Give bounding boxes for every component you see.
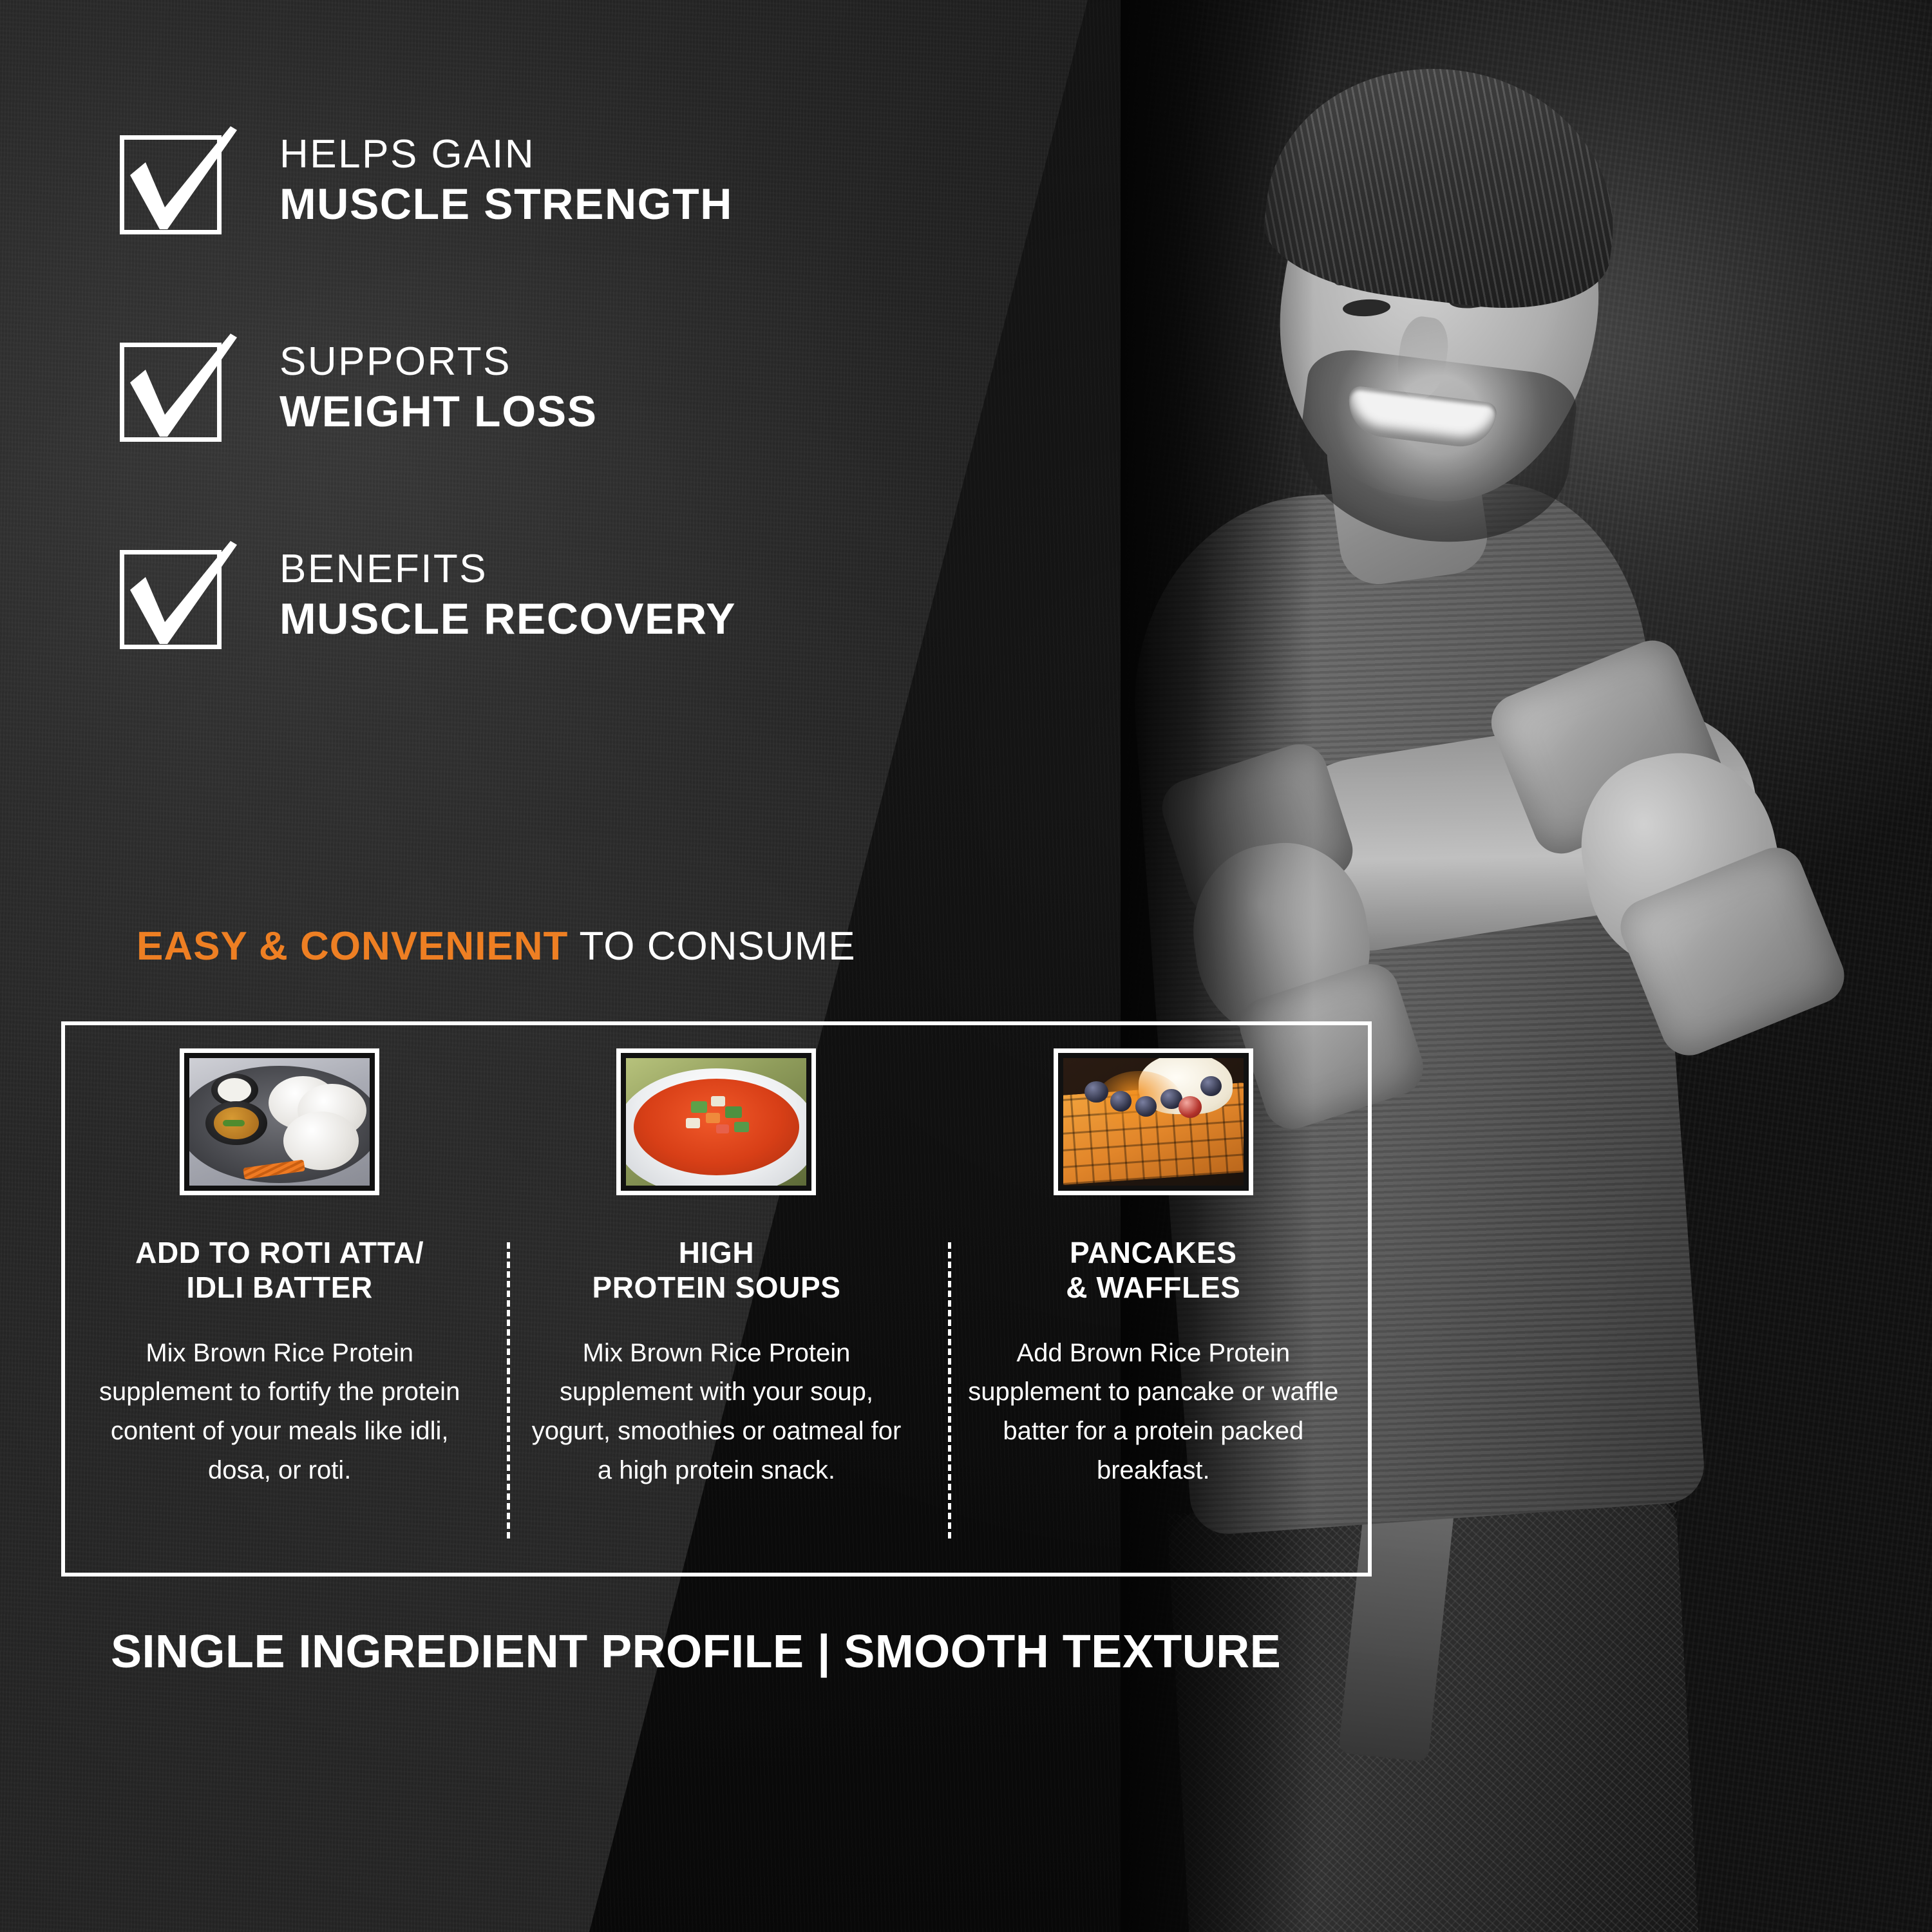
benefits-checklist: HELPS GAIN MUSCLE STRENGTH SUPPORTS WEIG… <box>120 126 736 748</box>
usage-card-title: ADD TO ROTI ATTA/ IDLI BATTER <box>135 1235 424 1305</box>
tomato-soup-photo <box>616 1048 816 1195</box>
benefit-text-1: HELPS GAIN MUSCLE STRENGTH <box>279 133 733 227</box>
easy-heading-strong: EASY & CONVENIENT <box>137 924 568 969</box>
easy-heading-light: TO CONSUME <box>568 924 855 969</box>
benefit-item-3: BENEFITS MUSCLE RECOVERY <box>120 541 736 649</box>
benefit-line2: MUSCLE RECOVERY <box>279 596 736 642</box>
benefit-item-2: SUPPORTS WEIGHT LOSS <box>120 334 736 442</box>
checkbox-checked-icon <box>120 126 228 234</box>
benefit-line2: WEIGHT LOSS <box>279 388 598 435</box>
checkbox-checked-icon <box>120 541 228 649</box>
usage-card-body: Mix Brown Rice Protein supplement to for… <box>93 1334 466 1490</box>
easy-convenient-heading: EASY & CONVENIENT TO CONSUME <box>137 923 856 969</box>
usage-divider-1 <box>507 1242 510 1539</box>
usage-divider-2 <box>948 1242 951 1539</box>
idli-platter-photo <box>180 1048 379 1195</box>
benefit-text-3: BENEFITS MUSCLE RECOVERY <box>279 548 736 642</box>
bottom-tagline: SINGLE INGREDIENT PROFILE | SMOOTH TEXTU… <box>111 1625 1281 1678</box>
usage-card-body: Mix Brown Rice Protein supplement with y… <box>529 1334 903 1490</box>
benefit-line2: MUSCLE STRENGTH <box>279 181 733 227</box>
usage-card-1: ADD TO ROTI ATTA/ IDLI BATTER Mix Brown … <box>61 1021 498 1577</box>
usage-card-body: Add Brown Rice Protein supplement to pan… <box>967 1334 1340 1490</box>
usage-card-title: HIGH PROTEIN SOUPS <box>592 1235 840 1305</box>
benefit-line1: HELPS GAIN <box>279 133 733 176</box>
checkbox-checked-icon <box>120 334 228 442</box>
benefit-item-1: HELPS GAIN MUSCLE STRENGTH <box>120 126 736 234</box>
benefit-text-2: SUPPORTS WEIGHT LOSS <box>279 341 598 435</box>
usage-card-3: PANCAKES & WAFFLES Add Brown Rice Protei… <box>935 1021 1372 1577</box>
waffles-berries-photo <box>1054 1048 1253 1195</box>
benefit-line1: BENEFITS <box>279 548 736 591</box>
poster-root: HELPS GAIN MUSCLE STRENGTH SUPPORTS WEIG… <box>0 0 1932 1932</box>
usage-card-title: PANCAKES & WAFFLES <box>1066 1235 1240 1305</box>
benefit-line1: SUPPORTS <box>279 341 598 383</box>
usage-columns: ADD TO ROTI ATTA/ IDLI BATTER Mix Brown … <box>61 1021 1372 1577</box>
usage-card-2: HIGH PROTEIN SOUPS Mix Brown Rice Protei… <box>498 1021 934 1577</box>
